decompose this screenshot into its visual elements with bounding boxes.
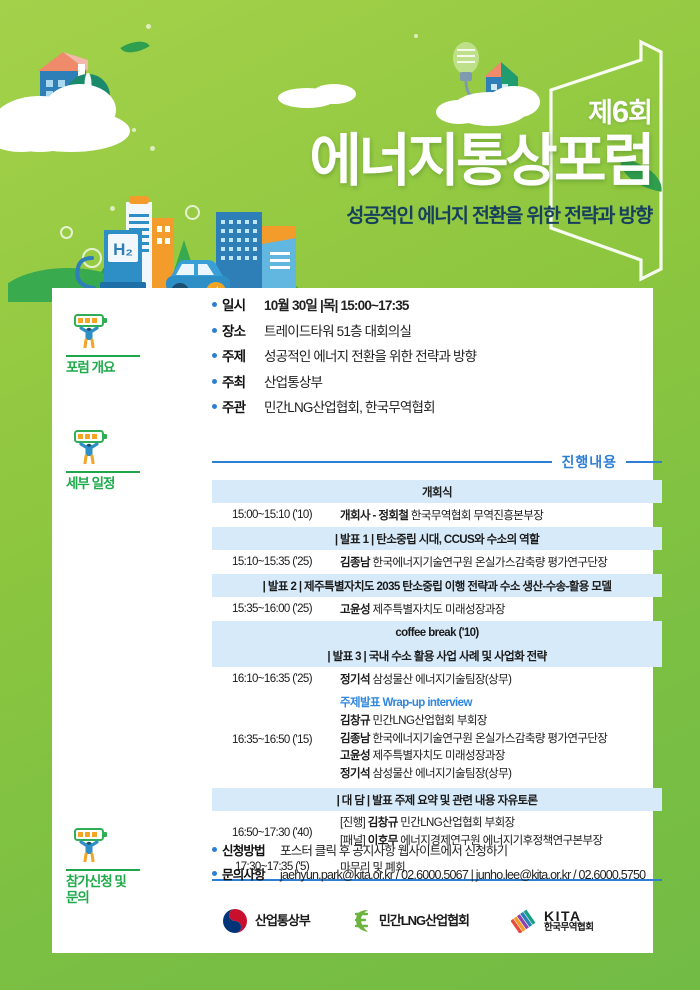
schedule-banner-row: | 발표 1 | 탄소중립 시대, CCUS와 수소의 역할	[212, 527, 662, 550]
schedule-block: 진행내용 개회식15:00~15:10 ('10)개회사 - 정회철 한국무역협…	[212, 452, 662, 881]
schedule-banner-text: | 발표 3 | 국내 수소 활용 사업 사례 및 사업화 전략	[327, 648, 546, 664]
schedule-row-desc: 고윤성 제주특별자치도 미래성장과장	[332, 601, 662, 617]
schedule-speaker-name: 김종남	[340, 557, 370, 569]
cloud-shape	[44, 84, 116, 136]
schedule-speaker-name: 김창규	[340, 715, 370, 727]
schedule-speaker-name: 개회사 - 정회철	[340, 510, 408, 522]
schedule-banner-row: | 대 담 | 발표 주제 요약 및 관련 내용 자유토론	[212, 788, 662, 811]
house-windturbine-icon	[10, 40, 150, 160]
schedule-row-line: 고윤성 제주특별자치도 미래성장과장	[340, 748, 662, 766]
lng-assoc-logo-name: 민간LNG산업협회	[379, 914, 469, 928]
content-card: 포럼 개요 일시10월 30일 |목| 15:00~17:35장소트레이드타워 …	[52, 288, 653, 953]
schedule-speaker-name: 고윤성	[340, 604, 370, 616]
edition-prefix: 제	[588, 98, 612, 128]
schedule-speaker-affiliation: 삼성물산 에너지기술팀장(상무)	[370, 674, 511, 686]
svg-text:H₂: H₂	[113, 240, 133, 259]
schedule-row-time: 15:00~15:10 ('10)	[212, 509, 332, 521]
overview-item: 장소트레이드타워 51층 대회의실	[212, 320, 476, 340]
schedule-banner-row: coffee break ('10)	[212, 621, 662, 644]
cloud-shape	[12, 110, 130, 152]
overview-item-value: 10월 30일 |목| 15:00~17:35	[264, 294, 409, 314]
sponsor-logos: 산업통상부 민간LNG산업협회	[222, 908, 593, 934]
person-lifting-battery-icon	[66, 314, 112, 348]
schedule-speaker-affiliation: 민간LNG산업협회 부회장	[370, 715, 487, 727]
bullet-icon	[212, 353, 217, 358]
overview-item: 일시10월 30일 |목| 15:00~17:35	[212, 294, 476, 314]
schedule-row: 15:00~15:10 ('10)개회사 - 정회철 한국무역협회 무역진흥본부…	[212, 503, 662, 527]
schedule-row-time: 15:35~16:00 ('25)	[212, 603, 332, 615]
section-schedule: 세부 일정	[66, 430, 140, 492]
registration-item-value: jaehyun.park@kita.or.kr / 02.6000.5067 |…	[280, 868, 645, 882]
schedule-row: 16:35~16:50 ('15)주제발표 Wrap-up interview김…	[212, 691, 662, 788]
schedule-row-line: 고윤성 제주특별자치도 미래성장과장	[340, 601, 662, 617]
schedule-speaker-affiliation: 한국에너지기술연구원 온실가스감축량 평가연구단장	[370, 557, 607, 569]
overview-item-label: 주최	[222, 371, 264, 391]
leaf-icon-top	[120, 34, 149, 60]
dot-decor	[150, 146, 155, 151]
page-title: 에너지통상포럼	[309, 133, 652, 190]
schedule-banner-text: | 대 담 | 발표 주제 요약 및 관련 내용 자유토론	[337, 792, 538, 808]
schedule-speaker-affiliation: 제주특별자치도 미래성장과장	[370, 750, 505, 762]
cloud-shape	[0, 96, 88, 152]
schedule-header-label: 진행내용	[561, 452, 617, 472]
person-lifting-battery-icon	[66, 828, 112, 862]
schedule-row-line: 김종남 한국에너지기술연구원 온실가스감축량 평가연구단장	[340, 731, 662, 749]
overview-item-value: 민간LNG산업협회, 한국무역협회	[264, 396, 435, 416]
schedule-banner-text: 개회식	[422, 484, 452, 500]
edition-label: 제6회	[309, 96, 652, 127]
schedule-row-desc: 개회사 - 정회철 한국무역협회 무역진흥본부장	[332, 507, 662, 523]
overview-list: 일시10월 30일 |목| 15:00~17:35장소트레이드타워 51층 대회…	[212, 294, 476, 422]
kita-logo-sub: 한국무역협회	[544, 923, 593, 933]
schedule-row: 16:10~16:35 ('25)정기석 삼성물산 에너지기술팀장(상무)	[212, 667, 662, 691]
overview-item-label: 장소	[222, 320, 264, 340]
motie-logo-name: 산업통상부	[255, 914, 310, 928]
section-registration-label-line1: 참가신청 및	[66, 874, 126, 889]
schedule-speaker-name: 김창규	[368, 817, 398, 829]
overview-item: 주관민간LNG산업협회, 한국무역협회	[212, 396, 476, 416]
poster-header: 제6회 에너지통상포럼 성공적인 에너지 전환을 위한 전략과 방향	[309, 96, 652, 228]
schedule-speaker-affiliation: 민간LNG산업협회 부회장	[398, 817, 515, 829]
bullet-icon	[212, 379, 217, 384]
kita-logo-name: KITA 한국무역협회	[544, 909, 593, 934]
edition-suffix: 회	[628, 98, 652, 128]
section-overview-label: 포럼 개요	[66, 355, 140, 376]
schedule-row: 15:10~15:35 ('25)김종남 한국에너지기술연구원 온실가스감축량 …	[212, 550, 662, 574]
schedule-banner-row: | 발표 2 | 제주특별자치도 2035 탄소중립 이행 전략과 수소 생산-…	[212, 574, 662, 597]
schedule-row-line: 김종남 한국에너지기술연구원 온실가스감축량 평가연구단장	[340, 554, 662, 570]
poster-root: 제6회 에너지통상포럼 성공적인 에너지 전환을 위한 전략과 방향	[0, 0, 700, 990]
schedule-speaker-affiliation: 삼성물산 에너지기술팀장(상무)	[370, 768, 511, 780]
registration-item-label: 문의사항	[222, 864, 280, 883]
divider-right	[626, 461, 662, 463]
motie-logo: 산업통상부	[222, 908, 310, 934]
schedule-line-prefix: [진행]	[340, 817, 368, 829]
schedule-speaker-name: 고윤성	[340, 750, 370, 762]
registration-item: 문의사항jaehyun.park@kita.or.kr / 02.6000.50…	[212, 864, 645, 883]
schedule-banner-text: coffee break ('10)	[395, 627, 478, 639]
registration-item-value: 포스터 클릭 후 공지사항 웹사이트에서 신청하기	[280, 840, 507, 859]
schedule-row-desc: 주제발표 Wrap-up interview김창규 민간LNG산업협회 부회장김…	[332, 695, 662, 784]
dot-decor	[414, 34, 418, 38]
registration-item: 신청방법포스터 클릭 후 공지사항 웹사이트에서 신청하기	[212, 840, 645, 859]
schedule-banner-row: 개회식	[212, 480, 662, 503]
schedule-speaker-name: 정기석	[340, 674, 370, 686]
overview-item-label: 주제	[222, 345, 264, 365]
kita-prism-icon	[511, 909, 537, 933]
schedule-row-heading: 주제발표 Wrap-up interview	[340, 695, 662, 713]
schedule-speaker-affiliation: 한국무역협회 무역진흥본부장	[408, 510, 543, 522]
edition-number: 6	[612, 94, 628, 129]
cloud-shape	[0, 118, 56, 152]
dot-decor	[132, 128, 136, 132]
section-schedule-label: 세부 일정	[66, 471, 140, 492]
schedule-row-line: 개회사 - 정회철 한국무역협회 무역진흥본부장	[340, 507, 662, 523]
registration-item-label: 신청방법	[222, 840, 280, 859]
schedule-speaker-name: 정기석	[340, 768, 370, 780]
bullet-icon	[212, 328, 217, 333]
schedule-row-line: 김창규 민간LNG산업협회 부회장	[340, 713, 662, 731]
leaf-e-icon	[352, 908, 372, 934]
dot-decor	[146, 24, 151, 29]
person-lifting-battery-icon	[66, 430, 112, 464]
schedule-speaker-name: 김종남	[340, 733, 370, 745]
overview-item-value: 산업통상부	[264, 371, 322, 391]
taegeuk-icon	[222, 908, 248, 934]
schedule-banner-text: | 발표 1 | 탄소중립 시대, CCUS와 수소의 역할	[335, 531, 539, 547]
section-overview: 포럼 개요	[66, 314, 140, 376]
section-registration: 참가신청 및 문의	[66, 828, 140, 907]
section-registration-label: 참가신청 및 문의	[66, 869, 140, 907]
bullet-icon	[212, 404, 217, 409]
schedule-row-time: 16:10~16:35 ('25)	[212, 673, 332, 685]
overview-item: 주제성공적인 에너지 전환을 위한 전략과 방향	[212, 345, 476, 365]
divider-left	[212, 461, 552, 463]
overview-item-label: 일시	[222, 294, 264, 314]
bullet-icon	[212, 871, 217, 876]
hydrogen-city-illustration: H₂ H₂	[8, 182, 308, 302]
bullet-icon	[212, 302, 217, 307]
schedule-banner-row: | 발표 3 | 국내 수소 활용 사업 사례 및 사업화 전략	[212, 644, 662, 667]
schedule-row-line: [진행] 김창규 민간LNG산업협회 부회장	[340, 815, 662, 833]
schedule-speaker-affiliation: 한국에너지기술연구원 온실가스감축량 평가연구단장	[370, 733, 607, 745]
overview-item-value: 트레이드타워 51층 대회의실	[264, 320, 411, 340]
schedule-row-time: 16:50~17:30 ('40)	[212, 827, 332, 839]
schedule-row-time: 16:35~16:50 ('15)	[212, 734, 332, 746]
kita-logo: KITA 한국무역협회	[511, 909, 593, 934]
lng-assoc-logo: 민간LNG산업협회	[352, 908, 469, 934]
schedule-row: 15:35~16:00 ('25)고윤성 제주특별자치도 미래성장과장	[212, 597, 662, 621]
schedule-row-desc: 정기석 삼성물산 에너지기술팀장(상무)	[332, 671, 662, 687]
schedule-speaker-affiliation: 제주특별자치도 미래성장과장	[370, 604, 505, 616]
page-subtitle: 성공적인 에너지 전환을 위한 전략과 방향	[309, 199, 652, 228]
schedule-row-desc: 김종남 한국에너지기술연구원 온실가스감축량 평가연구단장	[332, 554, 662, 570]
schedule-row-line: 정기석 삼성물산 에너지기술팀장(상무)	[340, 766, 662, 784]
overview-item-label: 주관	[222, 396, 264, 416]
schedule-header: 진행내용	[212, 452, 662, 472]
overview-item-value: 성공적인 에너지 전환을 위한 전략과 방향	[264, 345, 476, 365]
schedule-table: 개회식15:00~15:10 ('10)개회사 - 정회철 한국무역협회 무역진…	[212, 480, 662, 881]
registration-list: 신청방법포스터 클릭 후 공지사항 웹사이트에서 신청하기문의사항jaehyun…	[212, 840, 645, 888]
section-registration-label-line2: 문의	[66, 890, 89, 905]
schedule-row-time: 15:10~15:35 ('25)	[212, 556, 332, 568]
schedule-row-line: 정기석 삼성물산 에너지기술팀장(상무)	[340, 671, 662, 687]
bullet-icon	[212, 847, 217, 852]
schedule-banner-text: | 발표 2 | 제주특별자치도 2035 탄소중립 이행 전략과 수소 생산-…	[263, 578, 612, 594]
overview-item: 주최산업통상부	[212, 371, 476, 391]
